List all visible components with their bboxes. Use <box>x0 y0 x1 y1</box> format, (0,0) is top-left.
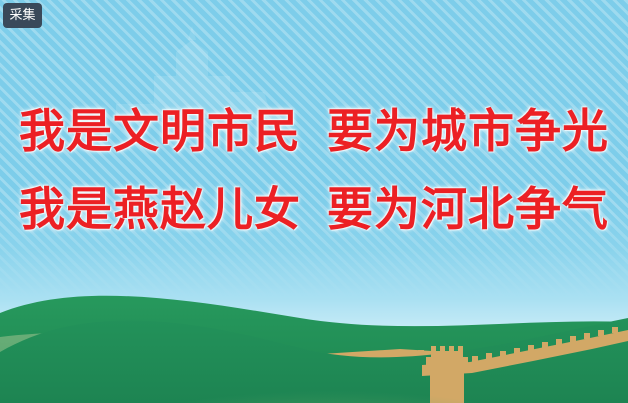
slogan-line-1-left: 我是文明市民 <box>19 104 301 158</box>
slogan-line-1: 我是文明市民要为城市争光 <box>0 92 628 170</box>
slogan-banner: 我是文明市民要为城市争光 我是燕赵儿女要为河北争气 采集 <box>0 0 628 403</box>
capture-badge[interactable]: 采集 <box>3 3 42 28</box>
slogan-text-block: 我是文明市民要为城市争光 我是燕赵儿女要为河北争气 <box>0 92 628 248</box>
slogan-line-2-left: 我是燕赵儿女 <box>19 182 301 236</box>
slogan-line-2-right: 要为河北争气 <box>327 182 609 236</box>
slogan-line-2: 我是燕赵儿女要为河北争气 <box>0 170 628 248</box>
slogan-line-1-right: 要为城市争光 <box>327 104 609 158</box>
